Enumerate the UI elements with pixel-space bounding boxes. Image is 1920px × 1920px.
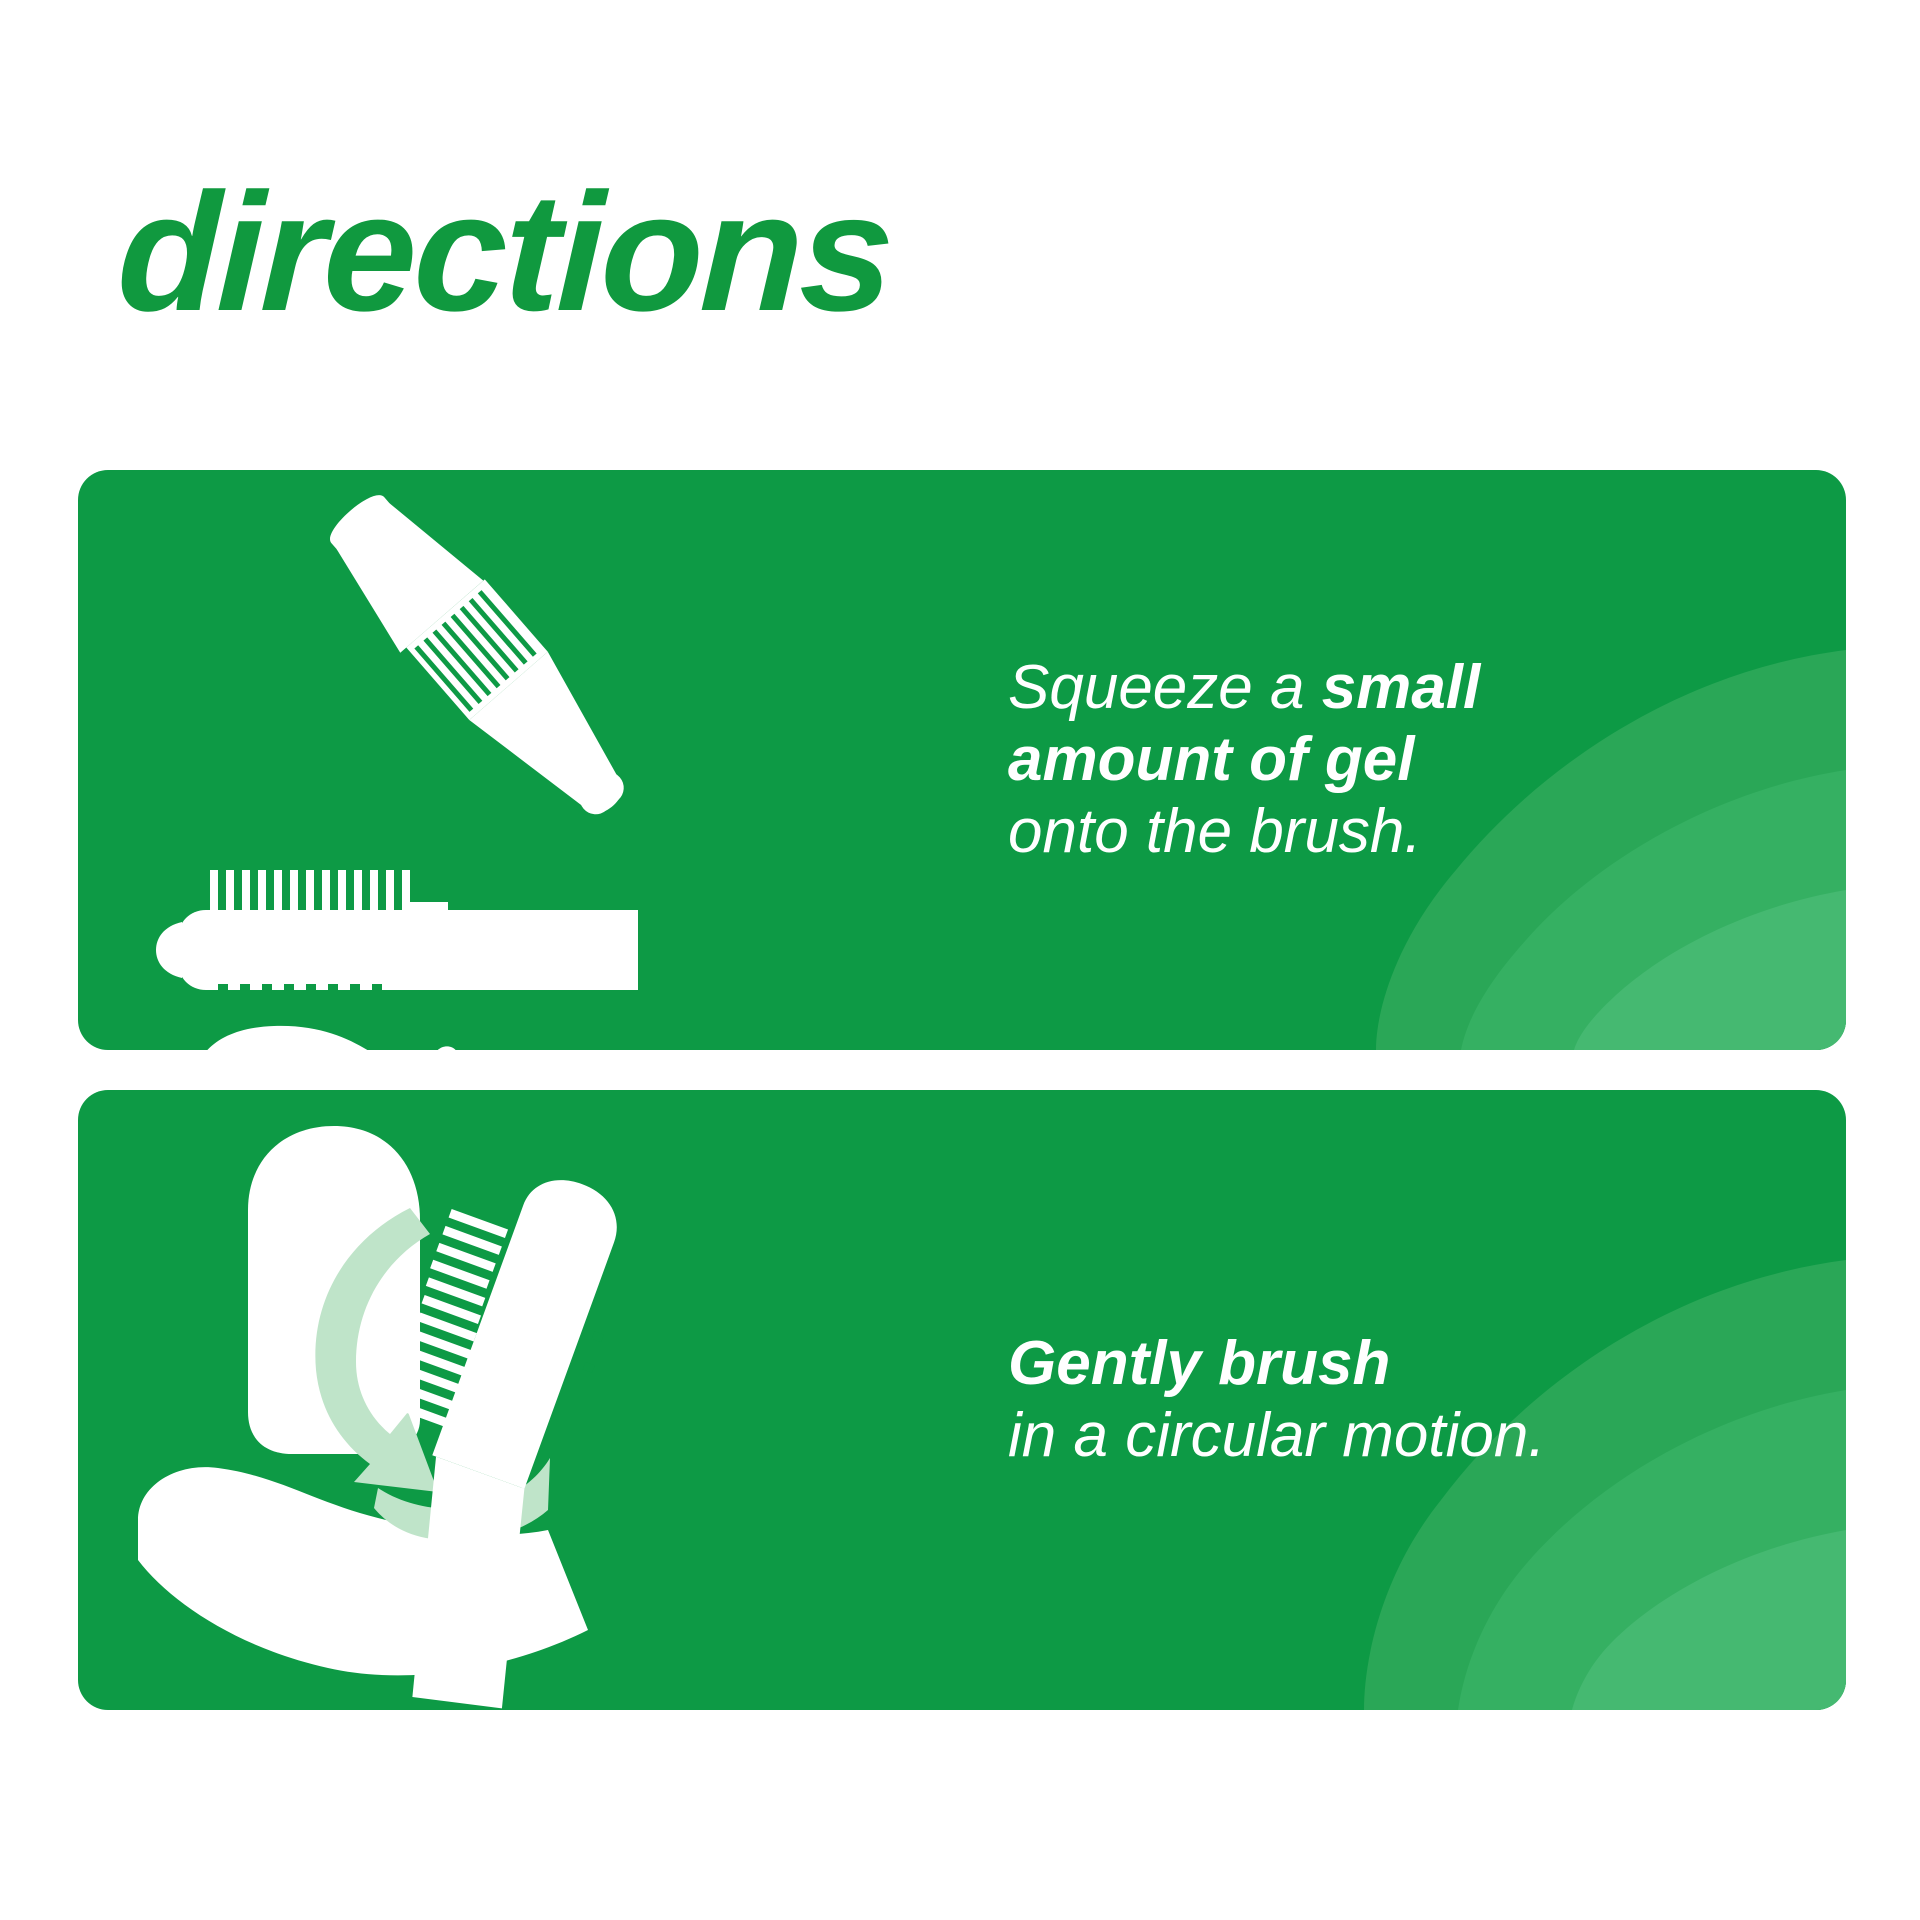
step-1-line-2: amount of gel — [1008, 724, 1768, 796]
step-1-seg-4: onto the brush. — [1008, 797, 1422, 866]
toothbrush-circular-motion-on-teeth-icon — [78, 1090, 718, 1710]
directions-panel: directions — [0, 0, 1920, 1920]
step-2-seg-2: in a circular motion. — [1008, 1401, 1546, 1470]
step-1-seg-2: small — [1322, 653, 1481, 722]
step-2-line-2: in a circular motion. — [1008, 1400, 1768, 1472]
step-1-text: Squeeze a small amount of gel onto the b… — [1008, 652, 1768, 868]
direction-step-card-1: Squeeze a small amount of gel onto the b… — [78, 470, 1846, 1050]
step-2-seg-1: Gently brush — [1008, 1329, 1390, 1398]
direction-step-card-2: Gently brush in a circular motion. — [78, 1090, 1846, 1710]
step-2-line-1: Gently brush — [1008, 1328, 1768, 1400]
step-1-seg-3: amount of gel — [1008, 725, 1414, 794]
step-1-line-1: Squeeze a small — [1008, 652, 1768, 724]
step-1-line-3: onto the brush. — [1008, 796, 1768, 868]
step-1-seg-1: Squeeze a — [1008, 653, 1322, 722]
page-title: directions — [115, 168, 894, 336]
step-2-text: Gently brush in a circular motion. — [1008, 1328, 1768, 1472]
toothpaste-tube-squeezing-onto-toothbrush-icon — [78, 470, 718, 1050]
